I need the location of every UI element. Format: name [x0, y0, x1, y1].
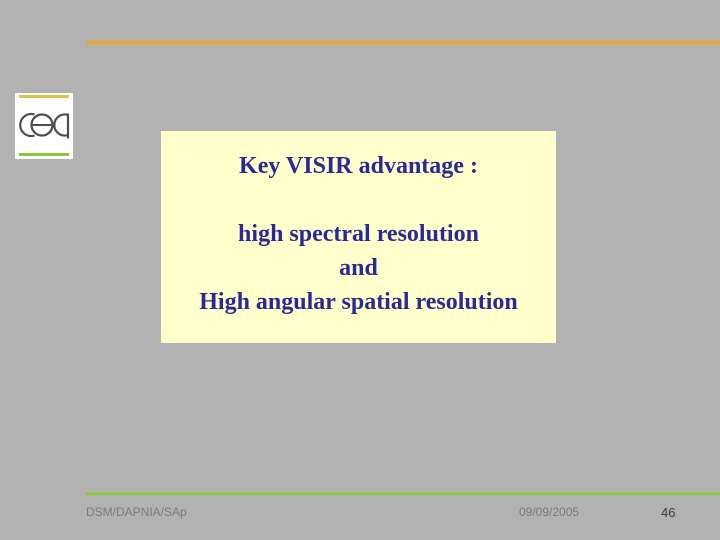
logo-bottom-band	[19, 153, 69, 156]
panel-spacer-line	[161, 183, 556, 217]
footer-author: DSM/DAPNIA/SAp	[86, 505, 187, 519]
footer-date: 09/09/2005	[519, 505, 579, 519]
panel-title: Key VISIR advantage :	[161, 149, 556, 183]
slide-canvas: Key VISIR advantage : high spectral reso…	[0, 0, 720, 540]
content-panel: Key VISIR advantage : high spectral reso…	[161, 131, 556, 343]
cea-wordmark-icon	[15, 108, 73, 142]
logo-top-band	[19, 95, 69, 98]
footer-page-number: 46	[661, 505, 675, 520]
panel-body-line-3: High angular spatial resolution	[161, 285, 556, 319]
panel-body-line-1: high spectral resolution	[161, 217, 556, 251]
bottom-divider-rule	[86, 492, 720, 495]
cea-logo	[15, 93, 73, 159]
top-divider-rule	[86, 41, 720, 45]
slide-footer: DSM/DAPNIA/SAp 09/09/2005 46	[0, 505, 720, 525]
panel-body-line-2: and	[161, 251, 556, 285]
